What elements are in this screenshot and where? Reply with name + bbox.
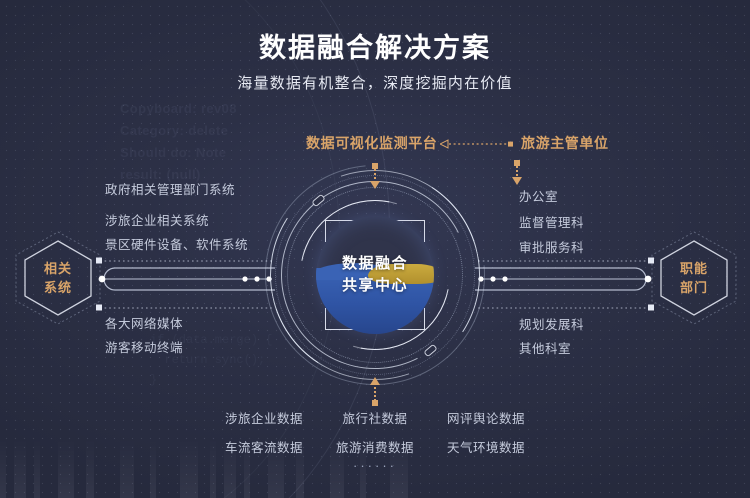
center-sphere-label: 数据融合 共享中心: [316, 216, 434, 334]
bottom-data-cell-2-1: 车流客流数据: [225, 437, 303, 456]
bottom-data-cell-2-3: 天气环境数据: [447, 437, 525, 456]
hexagon-left-line2: 系统: [44, 278, 72, 297]
hexagon-right-line1: 职能: [680, 259, 708, 278]
bottom-data-cell-2-2: 旅游消费数据: [336, 437, 414, 456]
marker-arrow-bottom: [369, 377, 381, 407]
bottom-data-row: 涉旅企业数据 旅行社数据 网评舆论数据: [225, 408, 525, 427]
top-connector-arrow: [440, 139, 516, 149]
hexagon-left-line1: 相关: [44, 259, 72, 278]
hexagon-related-systems[interactable]: 相关 系统: [12, 230, 104, 326]
left-source-item-5: 游客移动终端: [105, 337, 183, 356]
left-source-item-1: 政府相关管理部门系统: [105, 179, 235, 198]
right-department-item-5: 其他科室: [519, 338, 571, 357]
page-subtitle: 海量数据有机整合，深度挖掘内在价值: [0, 72, 750, 93]
bottom-data-cell-1-1: 涉旅企业数据: [225, 408, 303, 427]
background-code-text: Copyboard: rev08 Category: delete Should…: [120, 98, 237, 186]
right-department-item-4: 规划发展科: [519, 314, 584, 333]
center-sphere[interactable]: 数据融合 共享中心: [316, 216, 434, 334]
left-source-item-4: 各大网络媒体: [105, 313, 183, 332]
center-label-line2: 共享中心: [342, 275, 408, 297]
marker-arrow-top: [369, 163, 381, 193]
center-core: 数据融合 共享中心: [265, 165, 485, 385]
hexagon-right-label: 职能 部门: [648, 230, 740, 326]
right-department-item-2: 监督管理科: [519, 212, 584, 231]
hexagon-left-label: 相关 系统: [12, 230, 104, 326]
center-label-line1: 数据融合: [342, 253, 408, 275]
hexagon-right-line2: 部门: [680, 278, 708, 297]
marker-dotted-line: [374, 387, 376, 400]
label-tourism-authority: 旅游主管单位: [521, 133, 609, 153]
left-source-item-2: 涉旅企业相关系统: [105, 210, 209, 229]
right-department-item-3: 审批服务科: [519, 237, 584, 256]
page-title: 数据融合解决方案: [0, 26, 750, 65]
bottom-data-more: ······: [0, 458, 750, 473]
right-department-item-1: 办公室: [519, 186, 558, 205]
triangle-up-icon: [370, 377, 380, 385]
bottom-data-cell-1-2: 旅行社数据: [342, 408, 407, 427]
label-visualization-platform: 数据可视化监测平台: [306, 133, 437, 153]
triangle-down-icon: [370, 181, 380, 189]
left-source-item-3: 景区硬件设备、软件系统: [105, 234, 248, 253]
triangle-down-icon: [512, 177, 522, 185]
marker-square: [372, 400, 378, 406]
marker-arrow-right-top: [511, 160, 523, 186]
bottom-data-row: 车流客流数据 旅游消费数据 天气环境数据: [225, 437, 525, 456]
hexagon-functional-departments[interactable]: 职能 部门: [648, 230, 740, 326]
bottom-data-cell-1-3: 网评舆论数据: [447, 408, 525, 427]
